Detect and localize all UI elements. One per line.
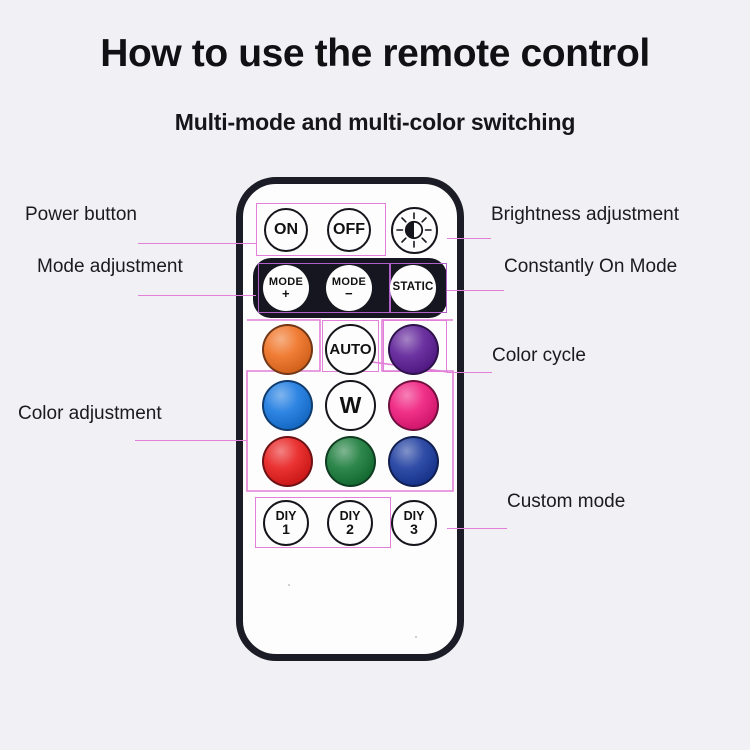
button-on-label: ON [274, 222, 298, 238]
button-off-label: OFF [333, 222, 365, 238]
button-color-orange[interactable] [262, 324, 313, 375]
swatch-gloss [264, 438, 311, 485]
page-subtitle: Multi-mode and multi-color switching [0, 109, 750, 136]
annotation-label-color-adjustment: Color adjustment [18, 403, 162, 425]
page-title: How to use the remote control [0, 32, 750, 76]
button-mode-plus-sign: + [269, 289, 303, 299]
button-white[interactable]: W [325, 380, 376, 431]
button-color-red[interactable] [262, 436, 313, 487]
button-color-blue[interactable] [262, 380, 313, 431]
annotation-label-constantly-on-mode: Constantly On Mode [504, 256, 677, 278]
annotation-label-mode-adjustment: Mode adjustment [37, 256, 183, 278]
button-diy-3-number: 3 [404, 523, 425, 536]
leader-line-power [138, 243, 256, 244]
button-static[interactable]: STATIC [390, 265, 436, 311]
annotation-label-brightness-adjustment: Brightness adjustment [491, 204, 679, 226]
button-diy-2-number: 2 [340, 523, 361, 536]
button-diy-2[interactable]: DIY 2 [327, 500, 373, 546]
button-off[interactable]: OFF [327, 208, 371, 252]
swatch-gloss [327, 438, 374, 485]
button-mode-plus[interactable]: MODE + [263, 265, 309, 311]
leader-line-color-adjust [135, 440, 247, 441]
button-mode-minus[interactable]: MODE − [326, 265, 372, 311]
button-color-navy[interactable] [388, 436, 439, 487]
leader-line-constantly-on [447, 290, 504, 291]
button-diy-3[interactable]: DIY 3 [391, 500, 437, 546]
leader-line-custom-mode [447, 528, 507, 529]
annotation-label-color-cycle: Color cycle [492, 345, 586, 367]
infographic-canvas: How to use the remote control Multi-mode… [0, 0, 750, 750]
swatch-gloss [390, 438, 437, 485]
body-speck [288, 584, 290, 586]
button-auto-label: AUTO [329, 342, 371, 357]
swatch-gloss [390, 326, 437, 373]
body-speck [415, 636, 417, 638]
annotation-label-custom-mode: Custom mode [507, 491, 625, 513]
swatch-gloss [264, 382, 311, 429]
button-color-magenta[interactable] [388, 380, 439, 431]
button-white-label: W [340, 394, 362, 417]
button-color-purple[interactable] [388, 324, 439, 375]
button-auto[interactable]: AUTO [325, 324, 376, 375]
button-on[interactable]: ON [264, 208, 308, 252]
button-diy-1-number: 1 [276, 523, 297, 536]
button-diy-1[interactable]: DIY 1 [263, 500, 309, 546]
brightness-sun-icon[interactable] [391, 207, 438, 254]
leader-line-brightness [447, 238, 491, 239]
annotation-label-power-button: Power button [25, 204, 137, 226]
leader-line-mode [138, 295, 256, 296]
swatch-gloss [390, 382, 437, 429]
button-color-green[interactable] [325, 436, 376, 487]
swatch-gloss [264, 326, 311, 373]
button-mode-minus-sign: − [332, 289, 366, 299]
button-static-label: STATIC [392, 282, 433, 294]
